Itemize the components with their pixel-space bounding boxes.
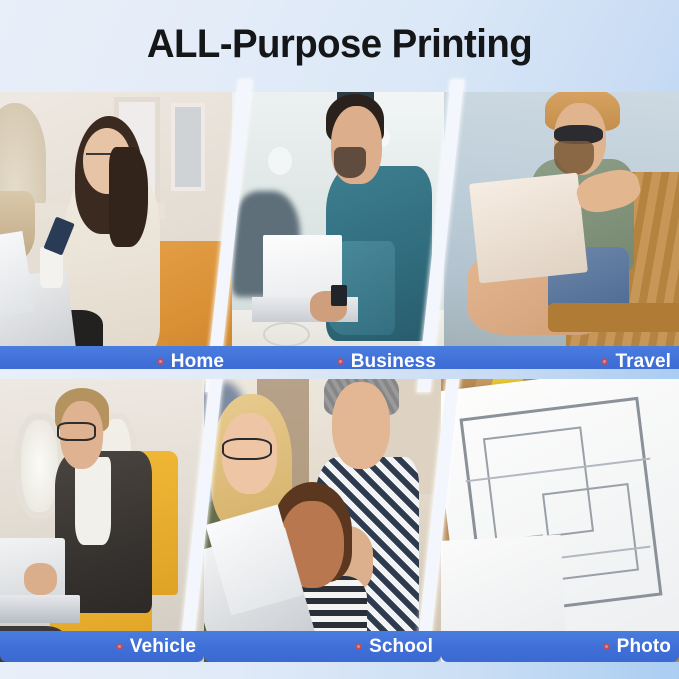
row-gap [0, 369, 679, 379]
all-purpose-printing-poster: ALL-Purpose Printing [0, 0, 679, 679]
title-area: ALL-Purpose Printing [0, 0, 679, 92]
panel-label-school-text: School [369, 637, 433, 656]
page-title: ALL-Purpose Printing [14, 22, 666, 67]
panel-travel[interactable]: Travel [444, 92, 679, 377]
panel-travel-image-clip [444, 92, 679, 377]
panel-home-photo [0, 92, 232, 377]
panel-vehicle[interactable]: Vehicle [0, 377, 204, 662]
scene-home [0, 92, 232, 377]
scene-school [204, 377, 441, 662]
panel-school-image-clip [204, 377, 441, 662]
scene-vehicle [0, 377, 204, 662]
circle-marker-icon [337, 358, 344, 365]
scene-photo [441, 377, 679, 662]
panel-row-1: Home [0, 92, 679, 377]
panel-row-2: Vehicle [0, 377, 679, 662]
panel-label-vehicle-text: Vehicle [130, 637, 196, 656]
panel-business[interactable]: Business [232, 92, 444, 377]
panel-vehicle-image-clip [0, 377, 204, 662]
circle-marker-icon [601, 358, 608, 365]
panel-label-photo-text: Photo [617, 637, 671, 656]
panel-home[interactable]: Home [0, 92, 232, 377]
panel-school-photo [204, 377, 441, 662]
scene-travel [444, 92, 679, 377]
panel-photo[interactable]: Photo [441, 377, 679, 662]
scene-business [232, 92, 444, 377]
panel-school[interactable]: School [204, 377, 441, 662]
panel-business-image-clip [232, 92, 444, 377]
circle-marker-icon [157, 358, 164, 365]
panel-travel-photo [444, 92, 679, 377]
circle-marker-icon [116, 643, 123, 650]
bottom-strip [0, 662, 679, 679]
panel-label-vehicle[interactable]: Vehicle [0, 631, 204, 662]
panel-photo-photo [441, 377, 679, 662]
panel-label-school[interactable]: School [204, 631, 441, 662]
panel-label-photo[interactable]: Photo [441, 631, 679, 662]
panel-vehicle-photo [0, 377, 204, 662]
panel-business-photo [232, 92, 444, 377]
panel-home-image-clip [0, 92, 232, 377]
panel-photo-image-clip [441, 377, 679, 662]
circle-marker-icon [603, 643, 610, 650]
circle-marker-icon [355, 643, 362, 650]
